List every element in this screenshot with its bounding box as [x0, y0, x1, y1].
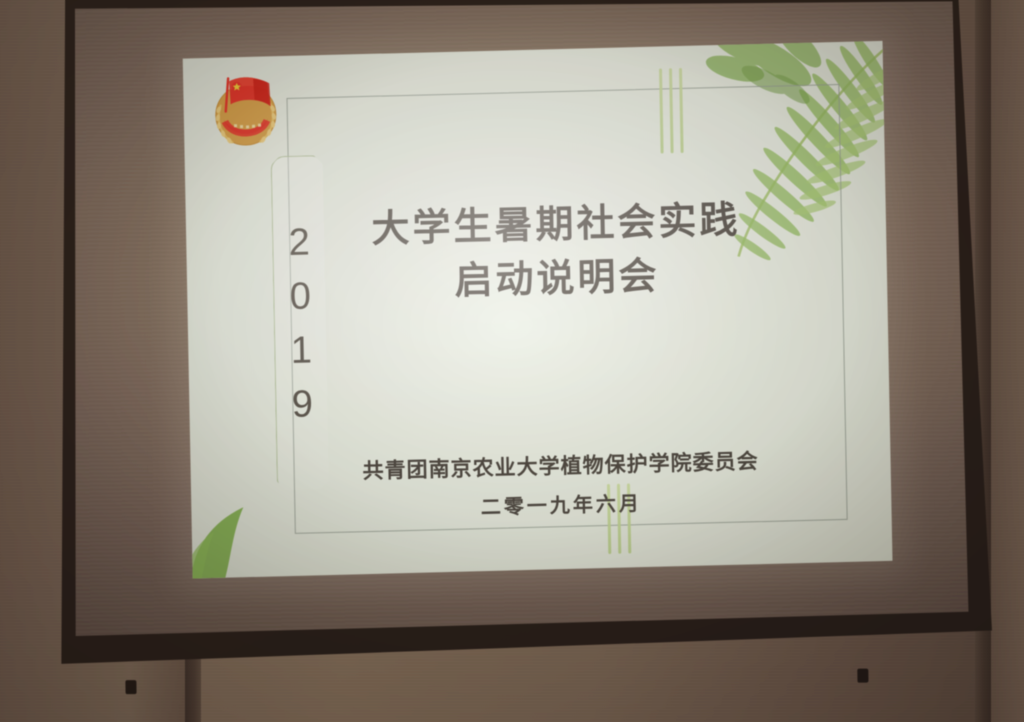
- slide-subtitle: 共青团南京农业大学植物保护学院委员会 二零一九年六月: [340, 442, 781, 531]
- screen-mount-bracket-left: [125, 680, 136, 694]
- communist-youth-league-emblem-icon: [209, 70, 284, 150]
- slide-title-line-1: 大学生暑期社会实践: [336, 194, 777, 259]
- year-digit: 2: [288, 223, 310, 262]
- green-stripes-top: [659, 68, 684, 154]
- photograph-of-projection-screen: 2 0 1 9 大学生暑期社会实践 启动说明会 共青团南京农业大学植物保护学院委…: [0, 0, 1024, 722]
- year-digit: 1: [290, 331, 312, 370]
- slide-title: 大学生暑期社会实践 启动说明会: [336, 194, 778, 313]
- screen-mount-bracket-right: [857, 669, 868, 683]
- year-digit: 0: [289, 277, 311, 316]
- projected-slide: 2 0 1 9 大学生暑期社会实践 启动说明会 共青团南京农业大学植物保护学院委…: [183, 41, 893, 579]
- projection-screen-assembly: 2 0 1 9 大学生暑期社会实践 启动说明会 共青团南京农业大学植物保护学院委…: [15, 0, 1022, 688]
- leaf-icon: [183, 484, 299, 579]
- slide-canvas: 2 0 1 9 大学生暑期社会实践 启动说明会 共青团南京农业大学植物保护学院委…: [183, 41, 893, 579]
- year-badge-2019: 2 0 1 9: [271, 155, 331, 492]
- year-digit: 9: [291, 385, 313, 424]
- slide-title-line-2: 启动说明会: [337, 248, 778, 313]
